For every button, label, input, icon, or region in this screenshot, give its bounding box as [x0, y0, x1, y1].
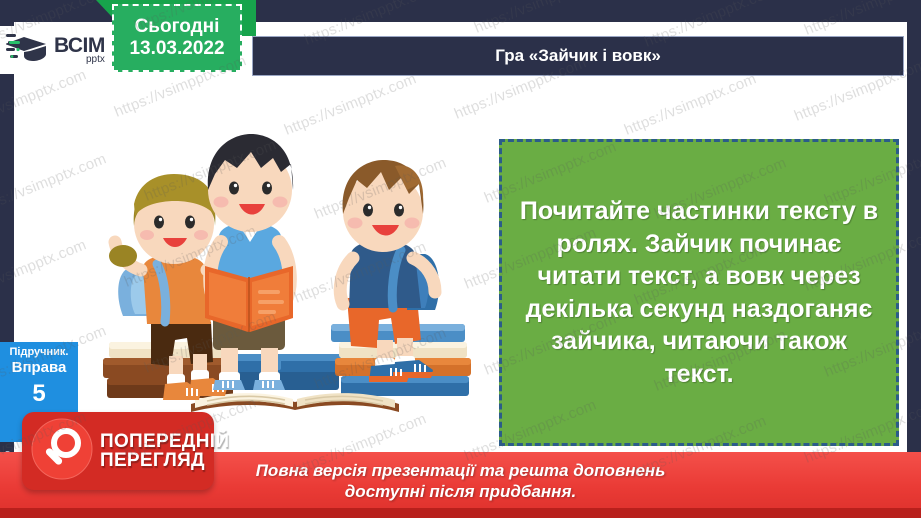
instruction-text: Почитайте частинки тексту в ролях. Зайчи…: [516, 195, 882, 390]
preview-watermark-badge: ПОПЕРЕДНІЙ ПЕРЕГЛЯД: [22, 412, 214, 490]
three-children-reading-books-illustration: [95, 118, 515, 448]
bottom-accent-strip: [0, 508, 921, 518]
brand-logo: ВСІМ pptx: [0, 26, 110, 74]
purchase-notice-line1: Повна версія презентації та решта доповн…: [256, 460, 666, 481]
preview-label: ПОПЕРЕДНІЙ ПЕРЕГЛЯД: [100, 432, 229, 471]
preview-label-line2: ПЕРЕГЛЯД: [100, 451, 229, 470]
logo-wordmark: ВСІМ: [54, 35, 105, 56]
slide-title-bar: Гра «Зайчик і вовк»: [252, 36, 904, 76]
graduation-cap-icon: [6, 32, 52, 69]
page-title: Гра «Зайчик і вовк»: [495, 46, 661, 66]
exercise-source-label: Підручник.: [0, 346, 78, 359]
exercise-number: 5: [0, 381, 78, 407]
instruction-box: Почитайте частинки тексту в ролях. Зайчи…: [499, 139, 899, 446]
purchase-notice-line2: доступні після придбання.: [345, 481, 576, 502]
magnifier-icon: [30, 417, 94, 486]
today-date-value: 13.03.2022: [129, 38, 224, 60]
preview-label-line1: ПОПЕРЕДНІЙ: [100, 432, 229, 451]
slide: https://vsimpptx.com https://vsimpptx.co…: [0, 0, 921, 518]
exercise-type-label: Вправа: [0, 359, 78, 377]
today-label: Сьогодні: [135, 16, 220, 38]
today-date-badge: Сьогодні 13.03.2022: [112, 4, 242, 72]
